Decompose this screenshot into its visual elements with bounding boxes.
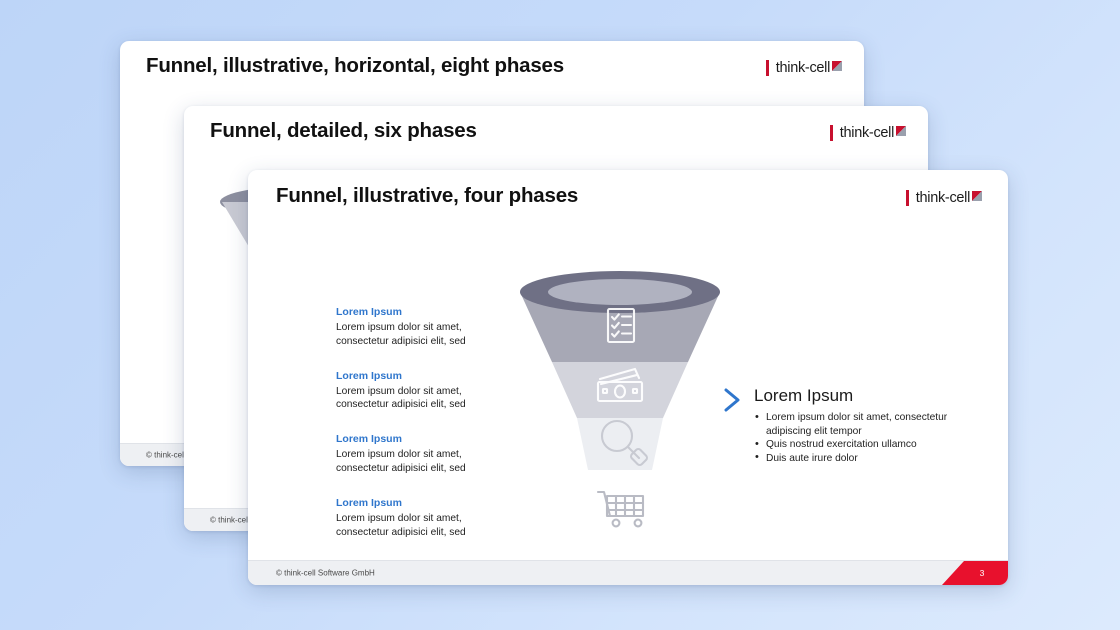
- footer-copyright: © think-cell: [146, 451, 186, 460]
- callout-title: Lorem Ipsum: [754, 385, 972, 406]
- callout-bullet-list: Lorem ipsum dolor sit amet, consectetur …: [754, 411, 972, 465]
- logo-square-icon: [832, 61, 842, 71]
- logo-bar-icon: [906, 190, 909, 206]
- shopping-cart-icon: [598, 492, 643, 526]
- callout-bullet: Lorem ipsum dolor sit amet, consectetur …: [754, 411, 972, 438]
- page-number-badge: 3: [942, 561, 1008, 585]
- phase-text-block: Lorem Ipsum Lorem ipsum dolor sit amet, …: [336, 432, 496, 476]
- footer-copyright: © think-cell Software GmbH: [276, 569, 375, 578]
- think-cell-logo: think-cell: [766, 59, 842, 77]
- page-number: 3: [966, 568, 985, 578]
- phase-heading: Lorem Ipsum: [336, 432, 496, 446]
- left-text-column: Lorem Ipsum Lorem ipsum dolor sit amet, …: [336, 305, 496, 539]
- think-cell-logo: think-cell: [830, 124, 906, 142]
- logo-bar-icon: [830, 125, 833, 141]
- phase-line-2: consectetur adipisici elit, sed: [336, 335, 496, 349]
- right-callout-body: Lorem Ipsum Lorem ipsum dolor sit amet, …: [754, 385, 972, 465]
- phase-heading: Lorem Ipsum: [336, 496, 496, 510]
- phase-line-2: consectetur adipisici elit, sed: [336, 526, 496, 540]
- slide-title: Funnel, detailed, six phases: [210, 119, 477, 143]
- phase-heading: Lorem Ipsum: [336, 305, 496, 319]
- slide-four-phases[interactable]: Funnel, illustrative, four phases think-…: [248, 170, 1008, 585]
- phase-line-1: Lorem ipsum dolor sit amet,: [336, 385, 496, 399]
- right-callout: Lorem Ipsum Lorem ipsum dolor sit amet, …: [722, 385, 972, 465]
- callout-bullet: Quis nostrud exercitation ullamco: [754, 438, 972, 452]
- phase-line-1: Lorem ipsum dolor sit amet,: [336, 321, 496, 335]
- logo-bar-icon: [766, 60, 769, 76]
- phase-text-block: Lorem Ipsum Lorem ipsum dolor sit amet, …: [336, 305, 496, 349]
- logo-wordmark: think-cell: [916, 190, 970, 206]
- chevron-right-icon: [722, 387, 744, 413]
- phase-heading: Lorem Ipsum: [336, 369, 496, 383]
- phase-line-1: Lorem ipsum dolor sit amet,: [336, 512, 496, 526]
- phase-line-2: consectetur adipisici elit, sed: [336, 462, 496, 476]
- logo-wordmark: think-cell: [776, 60, 830, 76]
- phase-line-2: consectetur adipisici elit, sed: [336, 398, 496, 412]
- slide-title: Funnel, illustrative, four phases: [276, 184, 578, 208]
- think-cell-logo: think-cell: [906, 189, 982, 207]
- logo-square-icon: [896, 126, 906, 136]
- phase-text-block: Lorem Ipsum Lorem ipsum dolor sit amet, …: [336, 496, 496, 540]
- phase-text-block: Lorem Ipsum Lorem ipsum dolor sit amet, …: [336, 369, 496, 413]
- logo-wordmark: think-cell: [840, 125, 894, 141]
- footer-copyright: © think-cell: [210, 516, 250, 525]
- phase-line-1: Lorem ipsum dolor sit amet,: [336, 448, 496, 462]
- slide-footer: © think-cell Software GmbH 3: [248, 560, 1008, 585]
- slide-title: Funnel, illustrative, horizontal, eight …: [146, 54, 564, 78]
- presentation-canvas: Funnel, illustrative, horizontal, eight …: [0, 0, 1120, 630]
- callout-bullet: Duis aute irure dolor: [754, 452, 972, 466]
- funnel-graphic[interactable]: [500, 252, 740, 542]
- logo-square-icon: [972, 191, 982, 201]
